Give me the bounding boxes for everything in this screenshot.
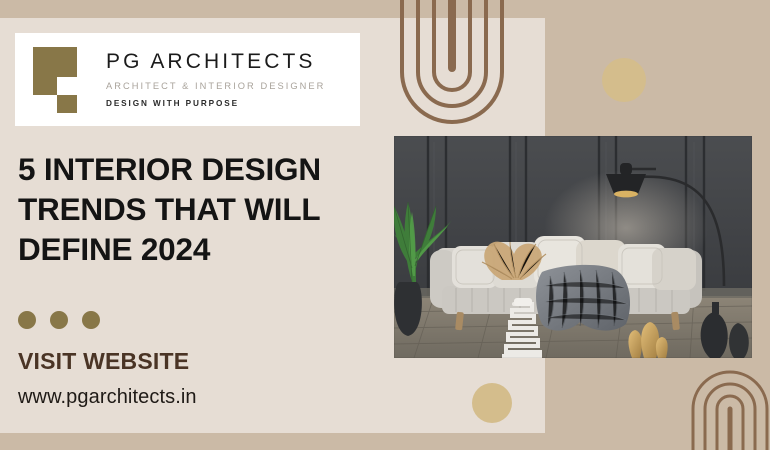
- dot-3: [82, 311, 100, 329]
- interior-photo: [394, 136, 752, 358]
- headline: 5 INTERIOR DESIGN TRENDS THAT WILL DEFIN…: [18, 149, 388, 269]
- dot-2: [50, 311, 68, 329]
- logo-name: PG ARCHITECTS: [106, 50, 325, 74]
- logo-tagline: DESIGN WITH PURPOSE: [106, 99, 325, 108]
- headline-line-1: 5 INTERIOR DESIGN: [18, 149, 388, 189]
- pg-architects-stepped-mark-icon: [33, 47, 89, 113]
- logo-subtitle: ARCHITECT & INTERIOR DESIGNER: [106, 81, 325, 92]
- logo-card[interactable]: PG ARCHITECTS ARCHITECT & INTERIOR DESIG…: [15, 33, 360, 126]
- promo-banner: PG ARCHITECTS ARCHITECT & INTERIOR DESIG…: [0, 0, 770, 450]
- gold-circle-bottom-center: [472, 383, 512, 423]
- website-url[interactable]: www.pgarchitects.in: [18, 386, 197, 409]
- headline-line-3: DEFINE 2024: [18, 229, 388, 269]
- visit-website-label[interactable]: VISIT WEBSITE: [18, 348, 189, 375]
- headline-line-2: TRENDS THAT WILL: [18, 189, 388, 229]
- dot-1: [18, 311, 36, 329]
- gold-circle-top-right: [602, 58, 646, 102]
- logo-text-block: PG ARCHITECTS ARCHITECT & INTERIOR DESIG…: [106, 50, 325, 108]
- dot-group: [18, 311, 100, 329]
